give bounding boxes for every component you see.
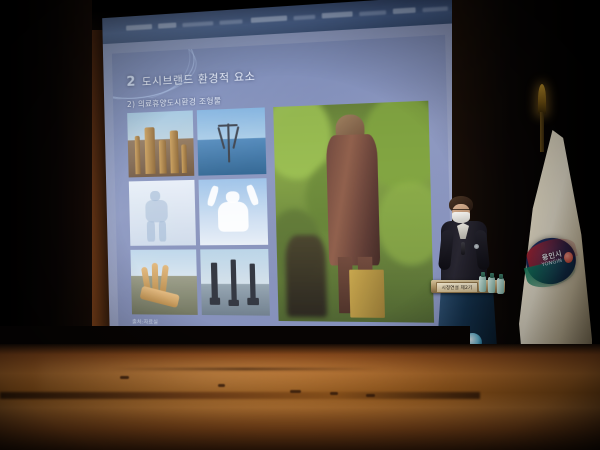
floor-seam	[110, 368, 380, 370]
flag-pole	[540, 112, 544, 152]
slide-number: 2	[126, 74, 136, 90]
slide-canvas: 2 도시브랜드 환경적 요소 2) 의료휴양도시환경 조형물	[103, 23, 464, 343]
photo-raised-arms-figure	[199, 178, 269, 245]
microphone-icon	[461, 242, 465, 255]
stage-edge	[0, 392, 480, 399]
city-emblem: 용인시 YONGIN	[520, 230, 582, 294]
photo-grid	[127, 107, 270, 315]
photo-traveler-statue	[273, 101, 434, 323]
face-mask-icon	[452, 212, 470, 223]
photo-bronze-pillars	[127, 110, 194, 177]
water-bottle	[488, 277, 495, 293]
projection-screen[interactable]: 2 도시브랜드 환경적 요소 2) 의료휴양도시환경 조형물	[102, 0, 463, 344]
photo-trio-figures	[200, 249, 270, 316]
podium-nameplate-text: 시정연설 제2기	[442, 285, 473, 291]
photo-trident-sculpture	[197, 107, 267, 175]
photo-hands-sculpture	[130, 249, 197, 315]
slide-credit: 출처:자료실	[132, 318, 158, 325]
slide-content: 2 도시브랜드 환경적 요소 2) 의료휴양도시환경 조형물	[112, 35, 453, 335]
lapel-badge-icon	[474, 244, 479, 249]
podium-nameplate: 시정연설 제2기	[436, 282, 478, 293]
water-bottle	[479, 276, 486, 292]
flag-finial-icon	[538, 84, 546, 114]
speaker-presenter	[441, 196, 487, 282]
photo-walking-figure	[129, 180, 196, 246]
auditorium-scene: 2 도시브랜드 환경적 요소 2) 의료휴양도시환경 조형물	[0, 0, 600, 450]
